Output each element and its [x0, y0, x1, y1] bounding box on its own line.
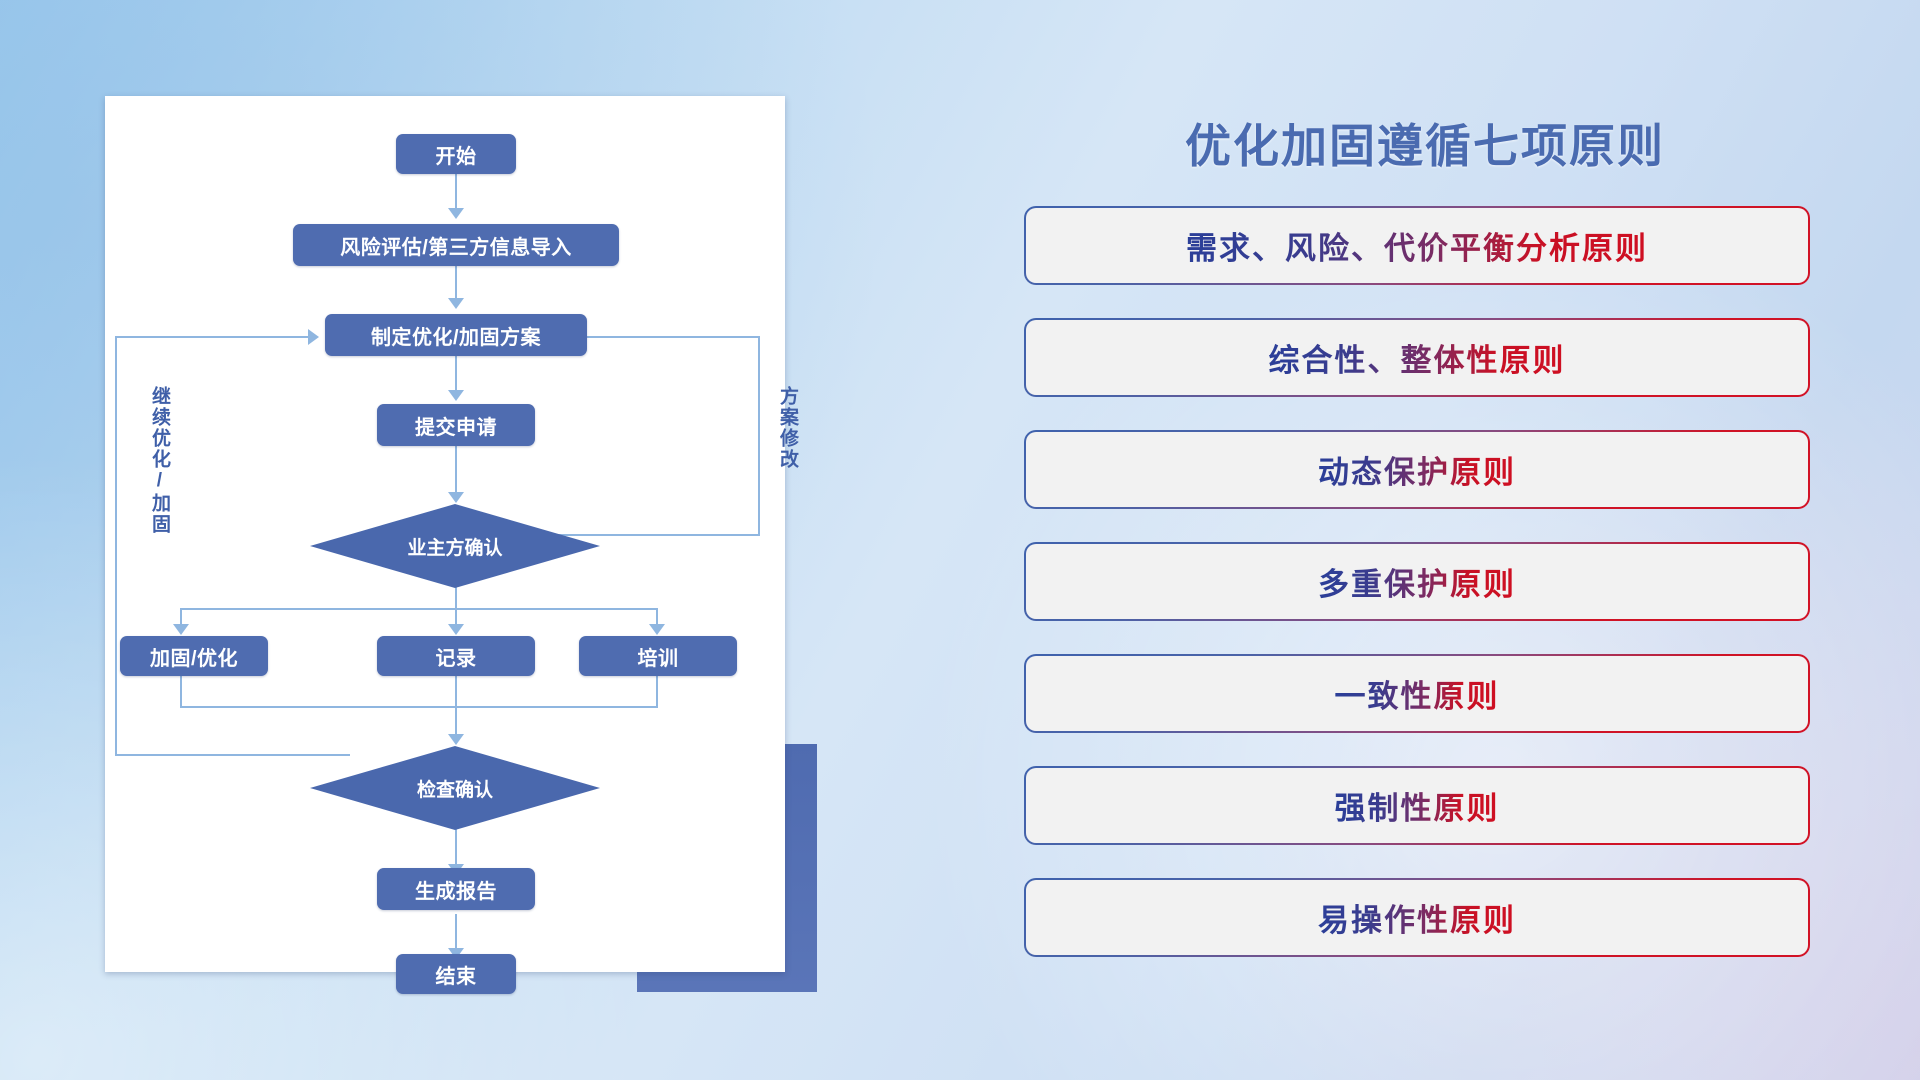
flowchart-card: 开始 风险评估/第三方信息导入 制定优化/加固方案 提交申请 业主方确认 加固/… [105, 96, 785, 972]
connector-loop-right-vertical [758, 336, 760, 536]
flow-node-submit-label: 提交申请 [415, 411, 497, 440]
principle-card-1-label: 需求、风险、代价平衡分析原则 [1186, 223, 1648, 268]
principle-card-5-label: 一致性原则 [1335, 671, 1500, 716]
flow-node-plan[interactable]: 制定优化/加固方案 [325, 314, 587, 356]
connector-training-merge [656, 676, 658, 708]
connector-reinforce-merge [180, 676, 182, 708]
principle-card-3[interactable]: 动态保护原则 [1024, 430, 1810, 509]
slide-canvas: 开始 风险评估/第三方信息导入 制定优化/加固方案 提交申请 业主方确认 加固/… [0, 0, 1920, 1080]
principle-card-4[interactable]: 多重保护原则 [1024, 542, 1810, 621]
principle-card-2-inner: 综合性、整体性原则 [1026, 320, 1808, 395]
connector-loop-right-bottom [558, 534, 760, 536]
flow-node-reinforce[interactable]: 加固/优化 [120, 636, 268, 676]
flow-node-risk-assessment-label: 风险评估/第三方信息导入 [340, 231, 572, 260]
principle-card-5-inner: 一致性原则 [1026, 656, 1808, 731]
principle-card-5[interactable]: 一致性原则 [1024, 654, 1810, 733]
principle-card-3-inner: 动态保护原则 [1026, 432, 1808, 507]
flow-node-training-label: 培训 [638, 642, 679, 671]
flow-node-report-label: 生成报告 [415, 875, 497, 904]
principle-card-7-label: 易操作性原则 [1318, 895, 1516, 940]
arrowhead-plan-submit [448, 390, 464, 401]
flow-node-end[interactable]: 结束 [396, 954, 516, 994]
flow-decision-owner-confirm[interactable]: 业主方确认 [310, 504, 600, 588]
flow-decision-check-confirm[interactable]: 检查确认 [310, 746, 600, 830]
principle-card-1[interactable]: 需求、风险、代价平衡分析原则 [1024, 206, 1810, 285]
arrowhead-branch-training [649, 624, 665, 635]
connector-loop-left-bottom [115, 754, 350, 756]
flow-node-report[interactable]: 生成报告 [377, 868, 535, 910]
flow-node-reinforce-label: 加固/优化 [150, 642, 238, 671]
arrowhead-loop-left-into-plan [308, 329, 319, 345]
flow-node-submit[interactable]: 提交申请 [377, 404, 535, 446]
flow-edge-label-right: 方案修改 [777, 386, 797, 470]
arrowhead-branch-record [448, 624, 464, 635]
flow-edge-label-left: 继续优化/加固 [149, 386, 169, 535]
principle-card-7[interactable]: 易操作性原则 [1024, 878, 1810, 957]
principle-card-6-label: 强制性原则 [1335, 783, 1500, 828]
flow-decision-check-confirm-label: 检查确认 [417, 775, 493, 802]
principle-card-3-label: 动态保护原则 [1318, 447, 1516, 492]
principle-card-1-inner: 需求、风险、代价平衡分析原则 [1026, 208, 1808, 283]
connector-record-to-check [455, 676, 457, 740]
flow-node-end-label: 结束 [436, 960, 477, 989]
principle-card-7-inner: 易操作性原则 [1026, 880, 1808, 955]
principle-card-4-inner: 多重保护原则 [1026, 544, 1808, 619]
flow-node-plan-label: 制定优化/加固方案 [371, 321, 541, 350]
panel-title: 优化加固遵循七项原则 [1010, 110, 1840, 176]
flow-node-start[interactable]: 开始 [396, 134, 516, 174]
connector-owner-branch-bus [180, 608, 658, 610]
principle-card-2[interactable]: 综合性、整体性原则 [1024, 318, 1810, 397]
flow-node-start-label: 开始 [436, 140, 477, 169]
flow-node-training[interactable]: 培训 [579, 636, 737, 676]
flow-node-record[interactable]: 记录 [377, 636, 535, 676]
flow-decision-owner-confirm-label: 业主方确认 [407, 533, 502, 560]
principle-card-2-label: 综合性、整体性原则 [1269, 335, 1566, 380]
arrowhead-submit-owner [448, 492, 464, 503]
flow-node-record-label: 记录 [436, 642, 477, 671]
connector-merge-bus [180, 706, 658, 708]
flow-node-risk-assessment[interactable]: 风险评估/第三方信息导入 [293, 224, 619, 266]
connector-submit-owner [455, 442, 457, 498]
arrowhead-branch-reinforce [173, 624, 189, 635]
connector-loop-left-vertical [115, 336, 117, 756]
principle-card-6-inner: 强制性原则 [1026, 768, 1808, 843]
principles-panel: 优化加固遵循七项原则 需求、风险、代价平衡分析原则 综合性、整体性原则 动态保护… [1010, 96, 1840, 986]
principle-card-6[interactable]: 强制性原则 [1024, 766, 1810, 845]
arrowhead-risk-plan [448, 298, 464, 309]
principle-card-4-label: 多重保护原则 [1318, 559, 1516, 604]
connector-loop-left-top [115, 336, 310, 338]
arrowhead-merge-check [448, 734, 464, 745]
arrowhead-start-risk [448, 208, 464, 219]
